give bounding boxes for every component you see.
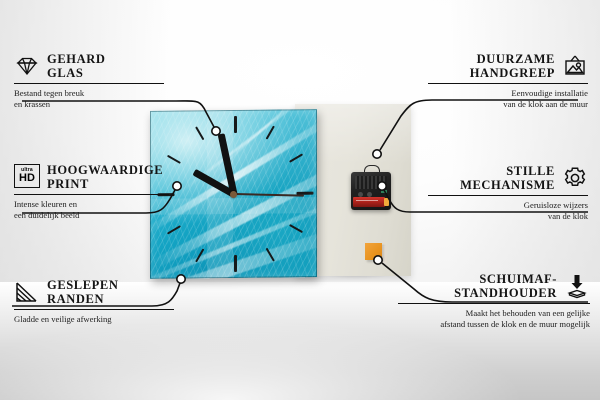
callout-desc-line2: van de klok [428,211,588,222]
callout-rule [428,195,588,196]
callout-desc-line1: Bestand tegen breuk [14,88,164,99]
callout-title-line2: GLAS [47,66,105,80]
callout-desc-line1: Geruisloze wijzers [428,200,588,211]
callout-title: SCHUIMAF- STANDHOUDER [454,272,557,300]
callout-stille-mechanisme[interactable]: STILLE MECHANISME Geruisloze wijzers van… [428,164,588,221]
callout-title-line1: HOOGWAARDIGE [47,163,163,177]
callout-head: DUURZAME HANDGREEP [428,52,588,80]
callout-rule [14,309,174,310]
callout-desc-line2: en krassen [14,99,164,110]
callout-rule [428,83,588,84]
callout-desc-line1: Gladde en veilige afwerking [14,314,174,325]
glass-edge [150,109,317,279]
callout-rule [398,303,590,304]
callout-desc-line2: een duidelijk beeld [14,210,169,221]
callout-desc-line2: afstand tussen de klok en de muur mogeli… [398,319,590,330]
callout-rule [14,194,169,195]
callout-title: DUURZAME HANDGREEP [470,52,555,80]
callout-title-line2: STANDHOUDER [454,286,557,300]
callout-title-line1: SCHUIMAF- [454,272,557,286]
callout-desc-line2: van de klok aan de muur [428,99,588,110]
bevelled-edges-icon [14,279,40,305]
infographic-stage: GEHARD GLAS Bestand tegen breuk en krass… [0,0,600,400]
ultra-hd-large-text: HD [19,173,35,184]
callout-head: ultra HD HOOGWAARDIGE PRINT [14,163,169,191]
hanging-picture-icon [562,53,588,79]
callout-gehard-glas[interactable]: GEHARD GLAS Bestand tegen breuk en krass… [14,52,164,109]
callout-head: GESLEPEN RANDEN [14,278,174,306]
callout-title-line1: GESLEPEN [47,278,119,292]
callout-title-line1: DUURZAME [470,52,555,66]
diamond-icon [14,53,40,79]
callout-title-line2: RANDEN [47,292,119,306]
callout-geslepen-randen[interactable]: GESLEPEN RANDEN Gladde en veilige afwerk… [14,278,174,325]
gear-icon [562,165,588,191]
callout-title-line1: STILLE [460,164,555,178]
callout-title-line1: GEHARD [47,52,105,66]
callout-title: GEHARD GLAS [47,52,105,80]
callout-title-line2: MECHANISME [460,178,555,192]
foam-spacer-pad [365,243,382,260]
mechanism-led [381,190,387,193]
callout-duurzame-handgreep[interactable]: DUURZAME HANDGREEP Eenvoudige installati… [428,52,588,109]
callout-head: STILLE MECHANISME [428,164,588,192]
mechanism-grill [355,176,387,189]
callout-title: GESLEPEN RANDEN [47,278,119,306]
callout-head: GEHARD GLAS [14,52,164,80]
callout-title-line2: HANDGREEP [470,66,555,80]
callout-head: SCHUIMAF- STANDHOUDER [398,272,590,300]
callout-desc-line1: Eenvoudige installatie [428,88,588,99]
callout-schuimafstandhouder[interactable]: SCHUIMAF- STANDHOUDER Maakt het behouden… [398,272,590,329]
clock-mechanism [351,172,391,210]
callout-title: STILLE MECHANISME [460,164,555,192]
callout-rule [14,83,164,84]
callout-desc-line1: Maakt het behouden van een gelijke [398,308,590,319]
foam-spacer-icon [564,273,590,299]
battery-stripe [356,200,378,201]
foam-pad-side [382,246,387,263]
battery [353,197,385,207]
ultra-hd-icon: ultra HD [14,164,40,190]
callout-hoogwaardige-print[interactable]: ultra HD HOOGWAARDIGE PRINT Intense kleu… [14,163,169,220]
glass-clock-face [150,109,317,279]
callout-desc-line1: Intense kleuren en [14,199,169,210]
callout-title-line2: PRINT [47,177,163,191]
callout-title: HOOGWAARDIGE PRINT [47,163,163,191]
